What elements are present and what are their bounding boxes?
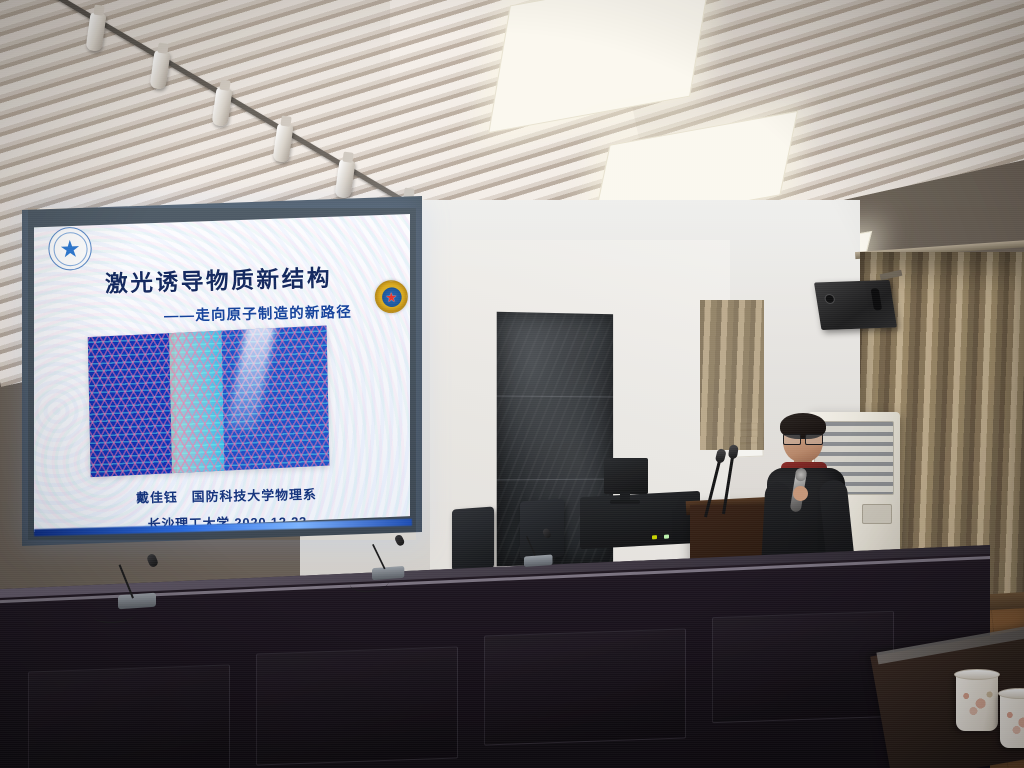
paper-cup-1 — [956, 673, 998, 731]
paper-cup-2 — [1000, 692, 1024, 748]
presenter-hand-holding-mic — [793, 486, 808, 501]
microphone-grille-icon — [794, 467, 807, 482]
slide-title: 激光诱导物质新结构 — [34, 258, 410, 301]
slide-subtitle: ——走向原子制造的新路径 — [34, 300, 410, 329]
slide-author-line: 戴佳钰 国防科技大学物理系 — [34, 481, 410, 508]
cup-pattern — [959, 687, 995, 717]
status-led-green — [664, 534, 669, 538]
speaker-port-icon — [871, 288, 882, 310]
desk-monitor — [604, 458, 648, 494]
desk-front-panel-3 — [484, 628, 686, 745]
wall-speaker — [814, 280, 897, 330]
chair-left — [452, 507, 494, 572]
desk-front-panel-2 — [256, 646, 458, 765]
chair-center — [520, 498, 564, 559]
status-led-amber — [652, 535, 657, 539]
cup-rim — [998, 688, 1024, 699]
speaker-driver-icon — [824, 294, 836, 304]
atomic-lattice-figure — [88, 325, 330, 477]
projection-screen: ★ ★ 激光诱导物质新结构 ——走向原子制造的新路径 戴佳钰 国防科技大学物理系… — [34, 214, 410, 532]
av-equipment-rack — [580, 491, 700, 549]
cup-pattern — [1003, 706, 1024, 736]
monitor-foot — [610, 500, 640, 504]
lecture-hall-photo: ★ ★ 激光诱导物质新结构 ——走向原子制造的新路径 戴佳钰 国防科技大学物理系… — [0, 0, 1024, 768]
university-seal-logo: ★ — [48, 226, 93, 271]
cup-rim — [954, 669, 1000, 680]
window-curtain-secondary — [700, 300, 764, 450]
desk-front-panel-1 — [28, 664, 230, 768]
ac-control-panel — [862, 504, 892, 524]
desk-front-panel-4 — [712, 611, 894, 723]
presenter-glasses — [782, 434, 824, 443]
